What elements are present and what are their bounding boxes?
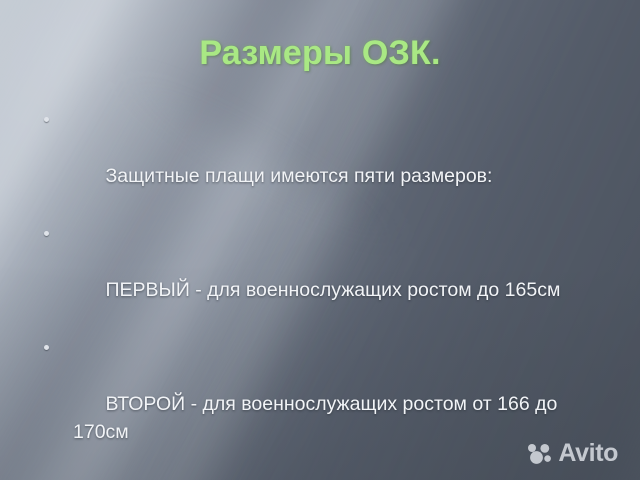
list-item: ВТОРОЙ - для военнослужащих ростом от 16… xyxy=(38,334,608,474)
slide-title: Размеры ОЗК. xyxy=(0,34,640,73)
avito-watermark: Avito xyxy=(527,441,618,466)
list-item: Защитные плащи имеются пяти размеров: xyxy=(38,106,608,218)
avito-wordmark: Avito xyxy=(558,441,618,466)
list-item-text: Защитные плащи имеются пяти размеров: xyxy=(106,165,493,187)
bullet-marker-icon xyxy=(44,117,49,122)
bullet-marker-icon xyxy=(44,345,49,350)
bullet-list: Защитные плащи имеются пяти размеров: ПЕ… xyxy=(38,106,608,480)
list-item-text: ПЕРВЫЙ - для военнослужащих ростом до 16… xyxy=(106,279,561,301)
avito-dots-logo-icon xyxy=(527,443,553,465)
list-item-text: ВТОРОЙ - для военнослужащих ростом от 16… xyxy=(73,393,563,443)
slide-canvas: Размеры ОЗК. Защитные плащи имеются пяти… xyxy=(0,0,640,480)
list-item: ПЕРВЫЙ - для военнослужащих ростом до 16… xyxy=(38,220,608,332)
list-item: ТРЕТИЙ - для военнослужащих ростом от 17… xyxy=(38,476,608,480)
bullet-marker-icon xyxy=(44,231,49,236)
